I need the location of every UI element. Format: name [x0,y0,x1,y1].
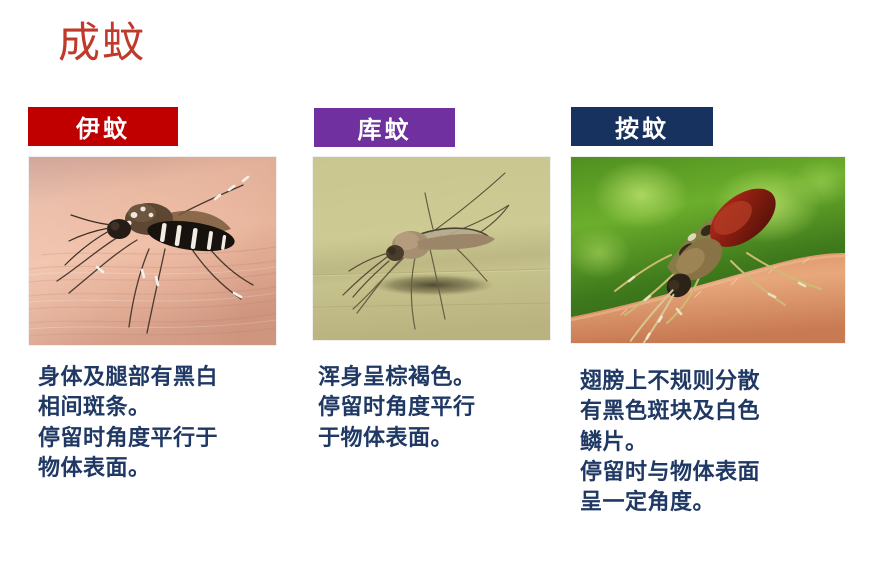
caption-anopheles: 翅膀上不规则分散 有黑色斑块及白色 鳞片。 停留时与物体表面 呈一定角度。 [580,366,855,518]
banner-label-aedes: 伊蚊 [28,107,178,146]
caption-culex: 浑身呈棕褐色。 停留时角度平行 于物体表面。 [318,362,553,453]
slide-canvas: 成蚊 伊蚊 [0,0,870,566]
page-title: 成蚊 [58,20,146,66]
banner-label-anopheles: 按蚊 [571,107,713,146]
banner-label-culex: 库蚊 [314,108,455,147]
anopheles-mosquito-photo [571,157,845,343]
caption-aedes: 身体及腿部有黑白 相间斑条。 停留时角度平行于 物体表面。 [38,362,283,483]
aedes-mosquito-photo [29,157,276,345]
culex-mosquito-photo [313,157,550,340]
